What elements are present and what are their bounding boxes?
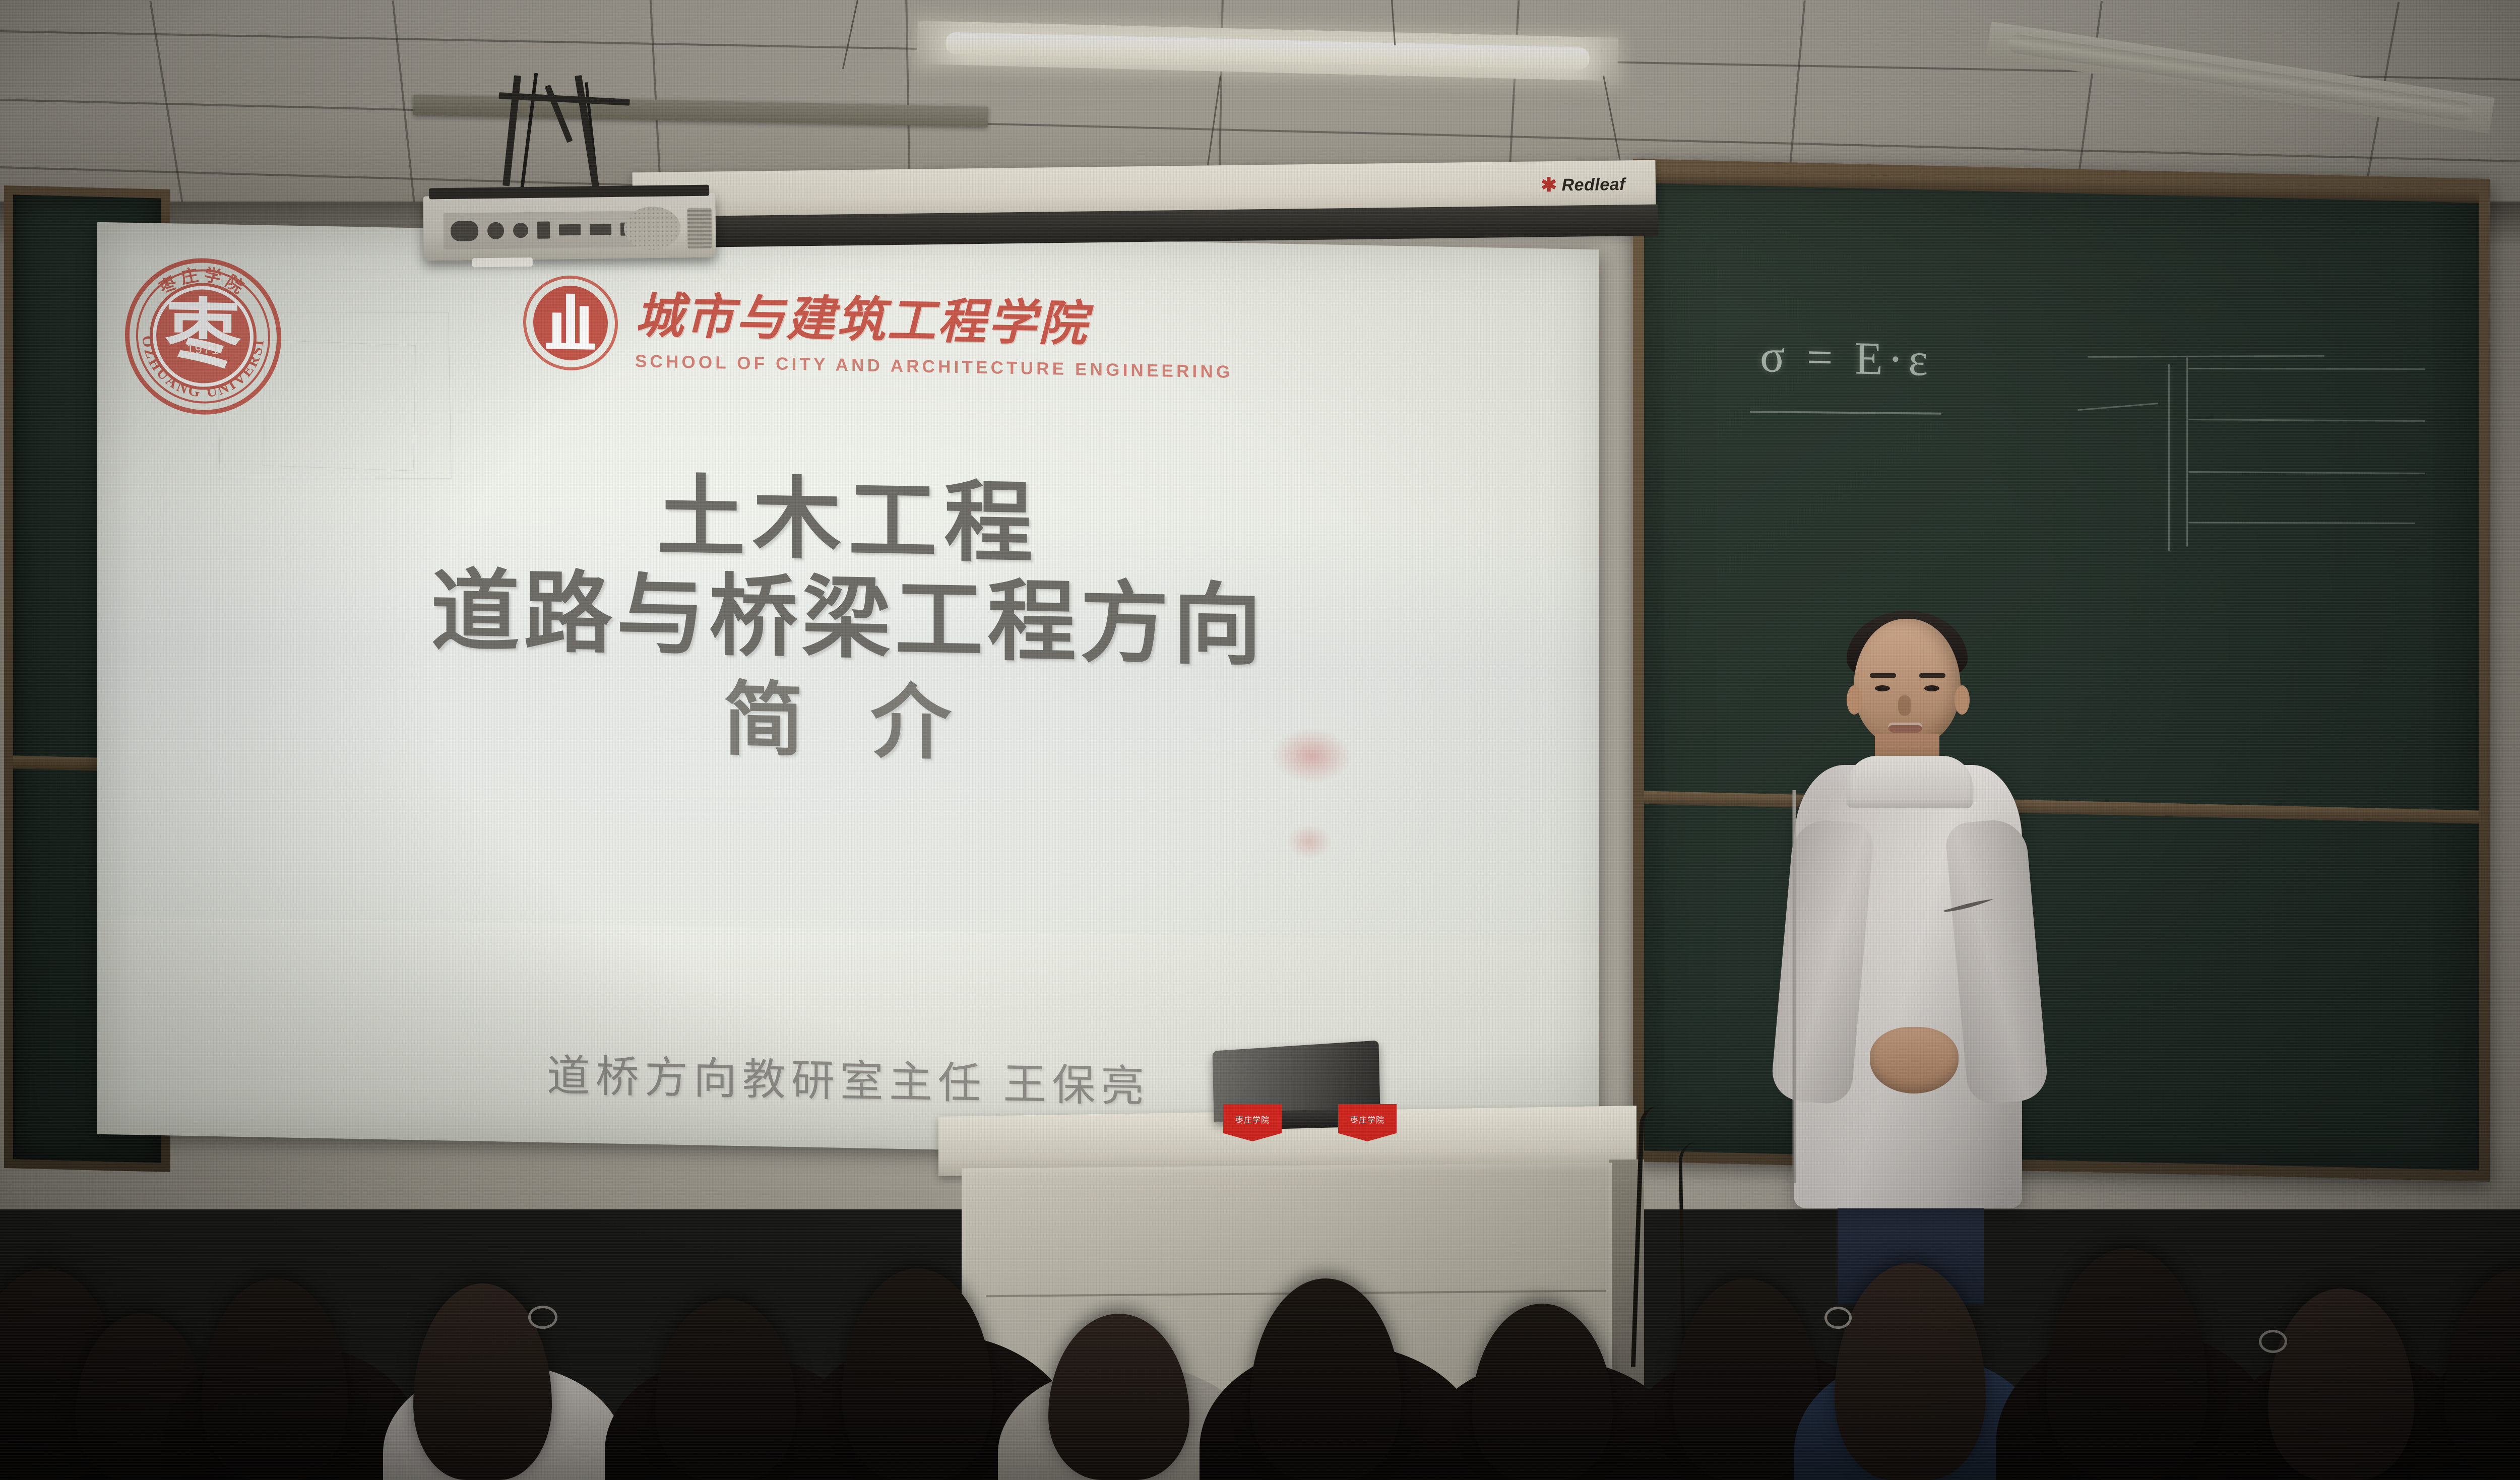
projector-lens	[472, 258, 533, 267]
ceiling-light-front-left	[917, 21, 1618, 81]
leaf-mark-icon: ✱	[1541, 175, 1557, 195]
screen-brand-text: Redleaf	[1561, 174, 1625, 195]
slide-title-block: 土木工程 道路与桥梁工程方向 简 介	[97, 459, 1599, 784]
audience-glasses-right	[2259, 1330, 2287, 1353]
university-seal: 枣 1971 ZAOZHUANG UNIVERSITY 枣庄学院	[125, 257, 281, 416]
school-name-chinese: 城市与建筑工程学院	[635, 276, 1233, 357]
slide-title-line-3: 简 介	[723, 671, 973, 772]
presenter-jacket-zipper	[1793, 790, 1796, 1183]
podium-vent-grid	[1046, 1428, 1236, 1480]
projector-vent	[687, 208, 712, 249]
seal-center-glyph: 枣	[156, 289, 250, 384]
ceiling-service-rail	[413, 95, 988, 127]
screen-brand-label: ✱ Redleaf	[1541, 174, 1625, 195]
seal-founded-year: 1971	[156, 341, 250, 358]
presenter-jacket-collar	[1847, 756, 1973, 808]
projector-speaker-grille	[624, 206, 681, 250]
projection-screen-surface: 枣 1971 ZAOZHUANG UNIVERSITY 枣庄学院	[97, 222, 1599, 1162]
podium-cabinet	[962, 1163, 1612, 1480]
slide-content: 枣 1971 ZAOZHUANG UNIVERSITY 枣庄学院	[97, 222, 1599, 1162]
lecture-hall-photo: σ = E·ε	[0, 0, 2520, 1480]
audience-glasses-left	[528, 1306, 557, 1329]
li-ning-swoosh-icon	[1943, 897, 1996, 915]
chalkboard-sketch	[2088, 306, 2461, 597]
slide-title-line-2: 道路与桥梁工程方向	[431, 563, 1266, 676]
lectern-podium: 枣庄学院 枣庄学院	[938, 1111, 1684, 1480]
school-logo: 城市与建筑工程学院 SCHOOL OF CITY AND ARCHITECTUR…	[523, 274, 1233, 382]
school-emblem-icon	[523, 275, 618, 371]
chalkboard-frame: σ = E·ε	[1633, 159, 2490, 1182]
podium-data-cable	[1678, 1141, 1723, 1373]
podium-cabinet-lock[interactable]	[1128, 1353, 1141, 1366]
chalkboard: σ = E·ε	[1644, 170, 2479, 1170]
chalkboard-underline	[1750, 411, 1941, 415]
chalkboard-formula: σ = E·ε	[1760, 329, 1933, 387]
ceiling-projector	[423, 192, 716, 261]
audience-glasses-center	[1824, 1307, 1852, 1329]
school-name-english: SCHOOL OF CITY AND ARCHITECTURE ENGINEER…	[635, 351, 1233, 382]
presenter-clasped-hands	[1870, 1027, 1959, 1093]
slide-title-line-1: 土木工程	[657, 469, 1040, 572]
